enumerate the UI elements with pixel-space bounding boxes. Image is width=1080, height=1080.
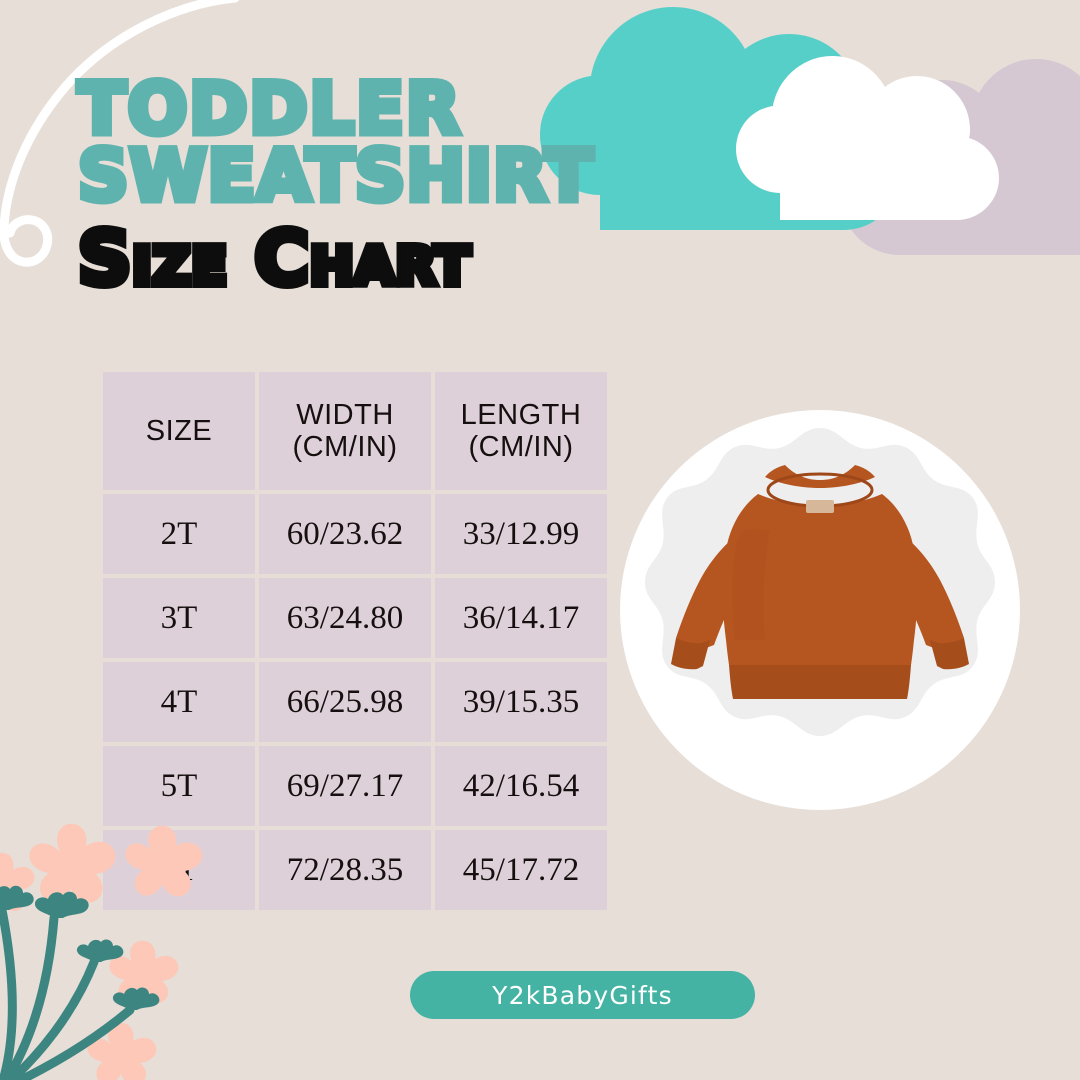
page-title-line-2: SWEATSHIRT [78,143,738,210]
cell-length: 39/15.35 [435,662,607,742]
table-row: 3T 63/24.80 36/14.17 [103,578,607,658]
product-photo-frame [620,410,1020,810]
column-header-width: WIDTH (CM/IN) [259,372,431,490]
cell-length: 33/12.99 [435,494,607,574]
cell-size: 4T [103,662,255,742]
cell-width: 63/24.80 [259,578,431,658]
size-chart-table: SIZE WIDTH (CM/IN) LENGTH (CM/IN) 2T 60/… [99,368,611,914]
cloud-white-icon [736,56,999,220]
column-header-width-line2: (CM/IN) [259,431,431,463]
cloud-mauve-icon [840,59,1080,255]
column-header-size: SIZE [103,372,255,490]
cell-size: 6T [103,830,255,910]
cell-length: 45/17.72 [435,830,607,910]
table-row: 4T 66/25.98 39/15.35 [103,662,607,742]
table-row: 2T 60/23.62 33/12.99 [103,494,607,574]
page-subtitle: Size Chart [78,222,738,296]
table-header: SIZE WIDTH (CM/IN) LENGTH (CM/IN) [103,372,607,490]
page-title-line-1: TODDLER [78,76,738,143]
cell-size: 3T [103,578,255,658]
cell-width: 66/25.98 [259,662,431,742]
cell-size: 2T [103,494,255,574]
column-header-width-line1: WIDTH [259,399,431,431]
column-header-size-line1: SIZE [103,415,255,447]
neck-label [806,500,834,513]
brand-name: Y2kBabyGifts [492,981,673,1010]
size-chart-canvas: TODDLER SWEATSHIRT Size Chart SIZE WIDTH… [0,0,1080,1080]
product-photo-svg [620,410,1020,810]
cell-width: 69/27.17 [259,746,431,826]
column-header-length: LENGTH (CM/IN) [435,372,607,490]
brand-badge[interactable]: Y2kBabyGifts [410,971,755,1019]
table-body: 2T 60/23.62 33/12.99 3T 63/24.80 36/14.1… [103,494,607,910]
table-header-row: SIZE WIDTH (CM/IN) LENGTH (CM/IN) [103,372,607,490]
column-header-length-line2: (CM/IN) [435,431,607,463]
cell-width: 72/28.35 [259,830,431,910]
flower-stems [0,910,130,1080]
cell-length: 36/14.17 [435,578,607,658]
cell-width: 60/23.62 [259,494,431,574]
table-row: 5T 69/27.17 42/16.54 [103,746,607,826]
table-row: 6T 72/28.35 45/17.72 [103,830,607,910]
cell-length: 42/16.54 [435,746,607,826]
title-block: TODDLER SWEATSHIRT Size Chart [78,76,738,296]
cell-size: 5T [103,746,255,826]
column-header-length-line1: LENGTH [435,399,607,431]
